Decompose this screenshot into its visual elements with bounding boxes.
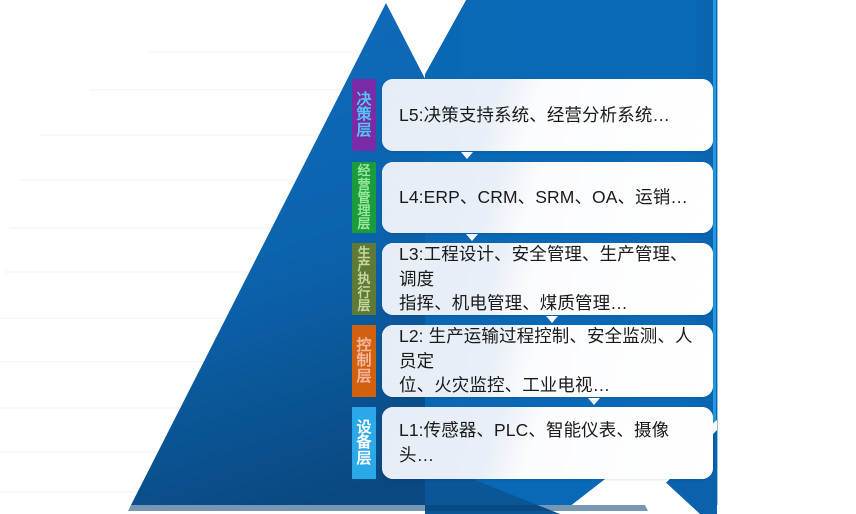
layer-tab-char: 产 [357, 259, 370, 272]
layer-card-line: L5:决策支持系统、经营分析系统… [399, 103, 670, 128]
layer-tab-l4[interactable]: 经 营 管 理 层 [352, 162, 376, 233]
separator-triangle-1 [461, 152, 473, 159]
layer-row-l2[interactable]: 控 制 层 L2: 生产运输过程控制、安全监测、人员定 位、火灾监控、工业电视… [352, 325, 713, 397]
layer-tab-char: 经 [357, 164, 370, 177]
layer-tab-l5[interactable]: 决 策 层 [352, 79, 376, 151]
layer-card-text-l5: L5:决策支持系统、经营分析系统… [399, 103, 670, 128]
layer-card-line: L4:ERP、CRM、SRM、OA、运销… [399, 185, 688, 210]
layer-card-line: 位、火灾监控、工业电视… [399, 373, 699, 397]
layer-tab-char: 执 [357, 272, 370, 285]
layer-tab-char: 生 [357, 246, 370, 259]
separator-triangle-4 [588, 398, 600, 405]
layer-tab-char: 策 [356, 107, 371, 122]
layer-card-line: L1:传感器、PLC、智能仪表、摄像头… [399, 418, 699, 468]
layer-card-l3[interactable]: L3:工程设计、安全管理、生产管理、调度 指挥、机电管理、煤质管理… [382, 243, 713, 315]
pyramid-base-rim [128, 505, 648, 511]
layer-card-l4[interactable]: L4:ERP、CRM、SRM、OA、运销… [382, 162, 713, 233]
layer-row-l3[interactable]: 生 产 执 行 层 L3:工程设计、安全管理、生产管理、调度 指挥、机电管理、煤… [352, 243, 713, 315]
layer-row-l5[interactable]: 决 策 层 L5:决策支持系统、经营分析系统… [352, 79, 713, 151]
layer-card-line: L3:工程设计、安全管理、生产管理、调度 [399, 243, 699, 291]
layer-tab-l1[interactable]: 设 备 层 [352, 407, 376, 479]
layer-card-text-l2: L2: 生产运输过程控制、安全监测、人员定 位、火灾监控、工业电视… [399, 325, 699, 397]
diagram-canvas: 决 策 层 L5:决策支持系统、经营分析系统… 经 营 管 理 层 L4:ERP… [0, 0, 856, 514]
layer-card-l1[interactable]: L1:传感器、PLC、智能仪表、摄像头… [382, 407, 713, 479]
layer-tab-char: 制 [356, 353, 371, 368]
layer-row-l4[interactable]: 经 营 管 理 层 L4:ERP、CRM、SRM、OA、运销… [352, 162, 713, 233]
layer-tab-char: 营 [357, 178, 370, 191]
layer-tab-l3[interactable]: 生 产 执 行 层 [352, 243, 376, 315]
layer-card-line: L2: 生产运输过程控制、安全监测、人员定 [399, 325, 699, 373]
layer-tab-char: 层 [356, 369, 371, 384]
layer-tab-char: 层 [356, 123, 371, 138]
layer-card-text-l4: L4:ERP、CRM、SRM、OA、运销… [399, 185, 688, 210]
layer-tab-char: 理 [357, 204, 370, 217]
layer-tab-char: 行 [357, 286, 370, 299]
layer-tab-char: 层 [357, 299, 370, 312]
layer-tab-char: 层 [357, 217, 370, 230]
layer-card-text-l1: L1:传感器、PLC、智能仪表、摄像头… [399, 418, 699, 468]
layer-tab-char: 层 [356, 451, 371, 466]
layer-card-l2[interactable]: L2: 生产运输过程控制、安全监测、人员定 位、火灾监控、工业电视… [382, 325, 713, 397]
separator-triangle-2 [466, 234, 478, 241]
layer-card-line: 指挥、机电管理、煤质管理… [399, 291, 699, 315]
layer-tab-char: 管 [357, 191, 370, 204]
layer-row-l1[interactable]: 设 备 层 L1:传感器、PLC、智能仪表、摄像头… [352, 407, 713, 479]
layer-tab-l2[interactable]: 控 制 层 [352, 325, 376, 397]
separator-triangle-3 [546, 316, 558, 323]
layer-card-l5[interactable]: L5:决策支持系统、经营分析系统… [382, 79, 713, 151]
layer-card-text-l3: L3:工程设计、安全管理、生产管理、调度 指挥、机电管理、煤质管理… [399, 243, 699, 315]
layer-tab-char: 备 [356, 435, 371, 450]
